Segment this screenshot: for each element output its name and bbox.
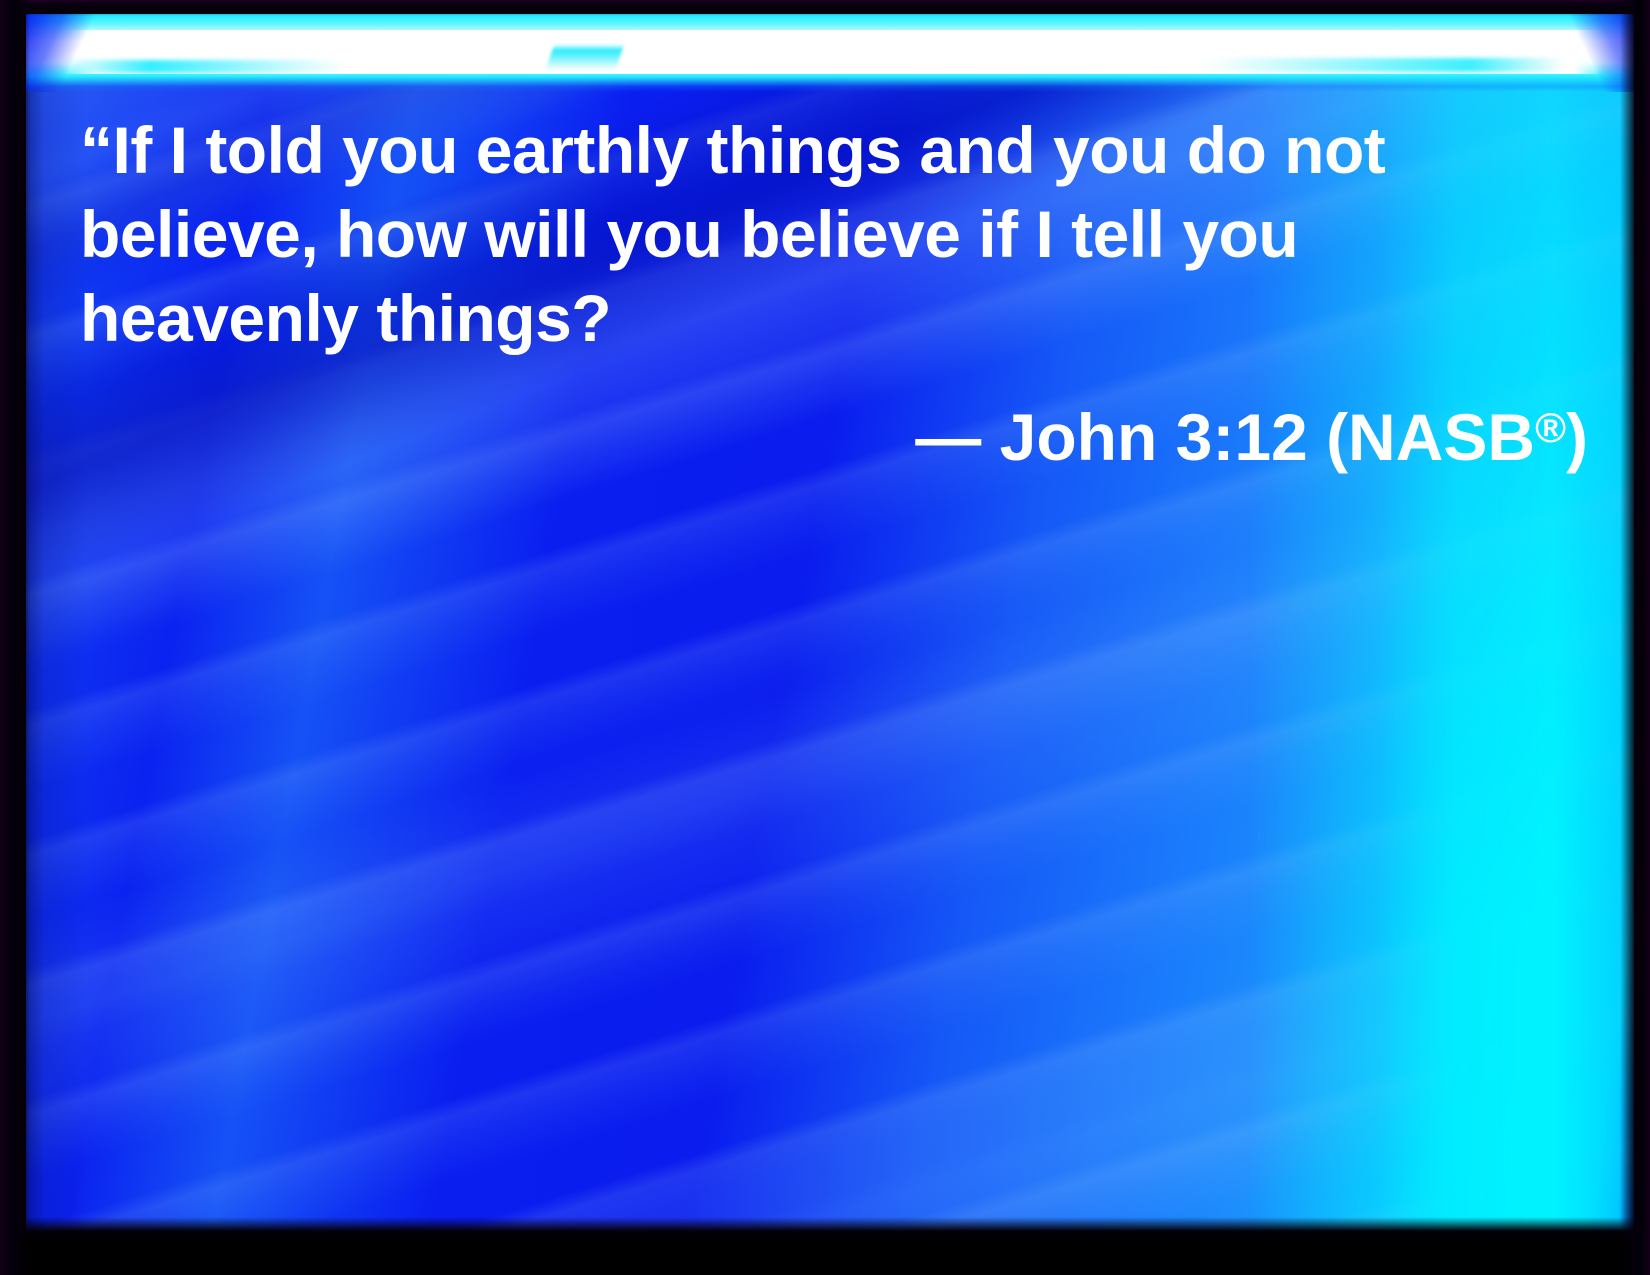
scripture-slide: “If I told you earthly things and you do… [0,0,1650,1275]
attribution-reference: John 3:12 (NASB [1000,400,1535,474]
verse-line-1: “If I told you earthly things and you do… [80,108,1594,192]
verse-attribution: — John 3:12 (NASB®) [80,386,1594,479]
verse-line-3: heavenly things? [80,276,1594,360]
verse-text-block: “If I told you earthly things and you do… [80,108,1594,479]
attribution-dash: — [915,400,999,474]
attribution-closing-paren: ) [1566,400,1588,474]
verse-line-2: believe, how will you believe if I tell … [80,192,1594,276]
registered-trademark-icon: ® [1535,404,1566,451]
